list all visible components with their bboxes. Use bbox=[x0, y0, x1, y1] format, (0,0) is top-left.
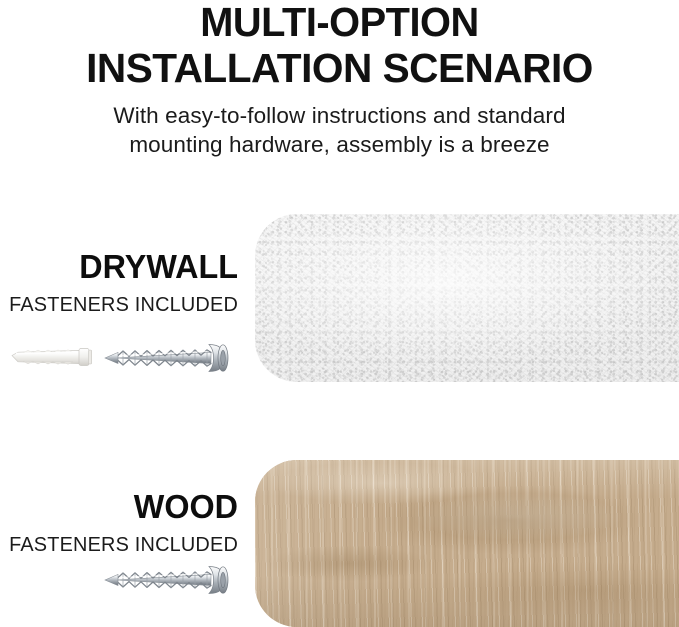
page-title-line-2: INSTALLATION SCENARIO bbox=[3, 48, 675, 89]
drywall-labels: DRYWALL FASTENERS INCLUDED bbox=[0, 250, 238, 316]
header: MULTI-OPTION INSTALLATION SCENARIO With … bbox=[0, 0, 679, 160]
page-subtitle: With easy-to-follow instructions and sta… bbox=[0, 102, 679, 160]
drywall-material-name: DRYWALL bbox=[5, 250, 238, 283]
drywall-fasteners-note: FASTENERS INCLUDED bbox=[7, 295, 238, 316]
wall-anchor-icon bbox=[10, 342, 94, 372]
drywall-hardware-row bbox=[0, 338, 245, 384]
page-subtitle-line-2: mounting hardware, assembly is a breeze bbox=[0, 131, 679, 160]
screw-icon-drywall bbox=[103, 338, 243, 378]
section-wood: WOOD FASTENERS INCLUDED bbox=[0, 460, 679, 627]
page-title-line-1: MULTI-OPTION bbox=[10, 2, 669, 43]
wood-hardware-row bbox=[0, 560, 245, 606]
page-subtitle-line-1: With easy-to-follow instructions and sta… bbox=[0, 102, 679, 131]
wood-labels: WOOD FASTENERS INCLUDED bbox=[0, 490, 238, 556]
wood-material-name: WOOD bbox=[5, 490, 238, 523]
section-drywall: DRYWALL FASTENERS INCLUDED bbox=[0, 214, 679, 384]
screw-icon-wood bbox=[103, 560, 243, 600]
wood-fasteners-note: FASTENERS INCLUDED bbox=[7, 535, 238, 556]
